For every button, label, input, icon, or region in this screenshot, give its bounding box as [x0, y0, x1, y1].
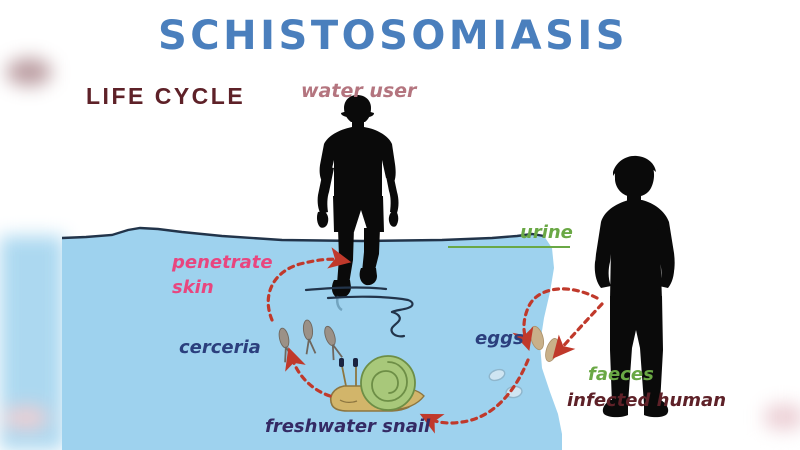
label-freshwater-snail: freshwater snail — [265, 418, 430, 436]
schistosomiasis-life-cycle-infographic: SCHISTOSOMIASIS LIFE CYCLE water user pe… — [0, 0, 800, 450]
urine-underline — [448, 246, 570, 248]
label-faeces: faeces — [588, 366, 654, 384]
label-water-user: water user — [301, 82, 416, 101]
label-penetrate-skin-line2: skin — [172, 279, 273, 297]
label-urine: urine — [520, 224, 573, 242]
diagram-scene: SCHISTOSOMIASIS LIFE CYCLE water user pe… — [62, 0, 762, 450]
label-infected-human: infected human — [567, 392, 726, 410]
label-cerceria: cerceria — [179, 339, 261, 357]
label-penetrate-skin-line1: penetrate — [172, 254, 273, 272]
arrow-eggs-to-snail — [430, 360, 528, 423]
left-blurred-border — [0, 0, 64, 450]
subtitle: LIFE CYCLE — [86, 85, 245, 108]
label-eggs: eggs — [475, 330, 524, 348]
transmission-arrows-layer — [62, 0, 762, 450]
arrow-faeces-to-water — [560, 304, 602, 350]
arrow-cercariae-to-human — [268, 259, 340, 320]
label-penetrate-skin: penetrate skin — [172, 254, 273, 297]
arrow-urine-to-water — [524, 289, 597, 340]
page-title: SCHISTOSOMIASIS — [158, 16, 628, 56]
right-blurred-border — [762, 0, 800, 450]
arrow-snail-to-cercariae — [292, 358, 330, 396]
